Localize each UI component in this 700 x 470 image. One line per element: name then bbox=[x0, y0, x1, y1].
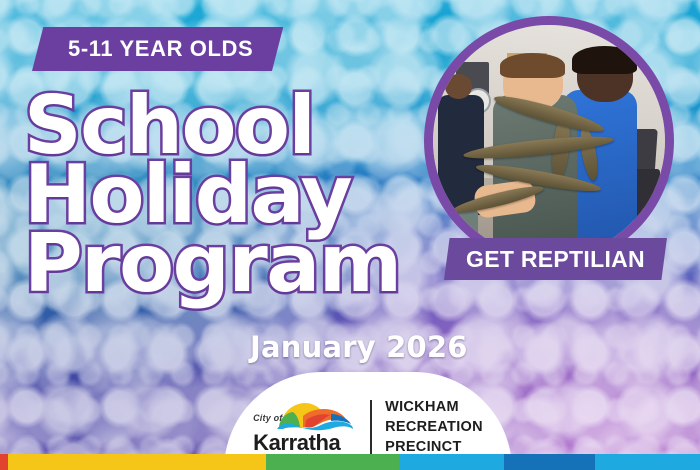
city-of-karratha-logo: City of Karratha bbox=[253, 401, 357, 456]
venue-line-2: RECREATION bbox=[385, 419, 483, 437]
logo-lockup: City of Karratha WICKHAM RECREATION PREC… bbox=[253, 399, 483, 456]
scene-child-blue-shirt-hair bbox=[572, 46, 637, 74]
age-banner: 5-11 YEAR OLDS bbox=[32, 27, 283, 71]
strip-segment-4 bbox=[399, 454, 504, 470]
city-of-label: City of bbox=[253, 413, 282, 423]
karratha-logo-mark-icon bbox=[275, 401, 353, 431]
activity-photo bbox=[424, 16, 674, 266]
strip-segment-6 bbox=[595, 454, 700, 470]
photo-scene bbox=[433, 25, 665, 257]
snake-coil-6 bbox=[577, 125, 600, 182]
venue-line-1: WICKHAM bbox=[385, 399, 483, 417]
strip-segment-5 bbox=[504, 454, 595, 470]
poster-root: 5-11 YEAR OLDS School Holiday Program Ja… bbox=[0, 0, 700, 470]
date-label: January 2026 bbox=[250, 330, 468, 364]
strip-segment-3 bbox=[266, 454, 399, 470]
scene-child-grey-shirt-hair bbox=[500, 53, 565, 79]
snake-coil-4 bbox=[451, 182, 545, 217]
activity-banner-label: GET REPTILIAN bbox=[466, 246, 645, 273]
strip-segment-1 bbox=[0, 454, 8, 470]
scene-snake bbox=[447, 104, 651, 225]
logo-divider bbox=[370, 400, 372, 456]
bottom-color-strip bbox=[0, 454, 700, 470]
page-title: School Holiday Program bbox=[24, 92, 454, 298]
karratha-label: Karratha bbox=[253, 430, 340, 456]
strip-segment-2 bbox=[8, 454, 266, 470]
venue-name: WICKHAM RECREATION PRECINCT bbox=[385, 399, 483, 456]
headline-line-3: Program bbox=[24, 230, 454, 299]
activity-banner: GET REPTILIAN bbox=[444, 238, 667, 280]
photo-image bbox=[433, 25, 665, 257]
age-banner-label: 5-11 YEAR OLDS bbox=[68, 36, 253, 62]
